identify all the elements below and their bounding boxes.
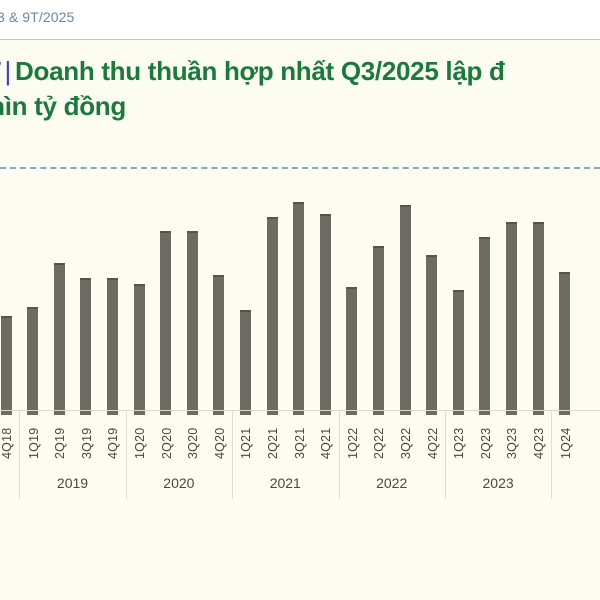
bar-cap	[187, 231, 198, 233]
year-group-2019: 2019	[19, 469, 125, 497]
bar-3q22	[400, 205, 411, 415]
headline-separator: |	[1, 56, 15, 86]
topbar: Q3 & 9T/2025	[0, 0, 600, 40]
bar-cap	[107, 278, 118, 280]
bar-cap	[320, 214, 331, 216]
bar-cap	[426, 255, 437, 257]
bar-1q23	[453, 290, 464, 415]
year-group-2021: 2021	[232, 469, 338, 497]
bar-cap	[293, 202, 304, 204]
bar-1q21	[240, 310, 251, 415]
bar-1q22	[346, 287, 357, 415]
x-tick-label: 1Q24	[559, 428, 573, 459]
bar-cap	[533, 222, 544, 224]
bar-cap	[213, 275, 224, 277]
headline-line-1-text: Doanh thu thuần hợp nhất Q3/2025 lập đ	[15, 56, 505, 86]
bar-cap	[54, 263, 65, 265]
bar-2q23	[479, 237, 490, 415]
bar-2q20	[160, 231, 171, 415]
bar-cap	[1, 316, 12, 318]
bar-4q18	[1, 316, 12, 415]
bar-4q20	[213, 275, 224, 415]
x-axis: 4Q181Q192Q193Q194Q191Q202Q203Q204Q201Q21…	[0, 411, 600, 501]
headline-line-1: HẤT|Doanh thu thuần hợp nhất Q3/2025 lập…	[0, 54, 505, 88]
bar-cap	[373, 246, 384, 248]
year-group-2020: 2020	[126, 469, 232, 497]
year-separator	[232, 411, 233, 499]
bar-cap	[346, 287, 357, 289]
bar-cap	[506, 222, 517, 224]
headline-line-2: nghìn tỷ đồng	[0, 89, 126, 123]
bar-cap	[80, 278, 91, 280]
year-separator	[551, 411, 552, 499]
bar-cap	[27, 307, 38, 309]
bar-1q19	[27, 307, 38, 415]
bar-cap	[267, 217, 278, 219]
headline: HẤT|Doanh thu thuần hợp nhất Q3/2025 lập…	[0, 44, 600, 130]
bar-cap	[240, 310, 251, 312]
bar-chart: 4Q181Q192Q193Q194Q191Q202Q203Q204Q201Q21…	[0, 130, 600, 600]
year-separator	[445, 411, 446, 499]
bar-3q19	[80, 278, 91, 415]
year-group-2023: 2023	[445, 469, 551, 497]
bar-2q19	[54, 263, 65, 415]
bar-4q21	[320, 214, 331, 415]
topbar-label: Q3 & 9T/2025	[0, 9, 74, 25]
bar-4q23	[533, 222, 544, 415]
bar-2q21	[267, 217, 278, 415]
year-separator	[126, 411, 127, 499]
bar-1q20	[134, 284, 145, 415]
bar-3q21	[293, 202, 304, 415]
bar-cap	[134, 284, 145, 286]
bar-2q22	[373, 246, 384, 415]
bar-cap	[453, 290, 464, 292]
bar-3q20	[187, 231, 198, 415]
bar-1q24	[559, 272, 570, 415]
bar-cap	[400, 205, 411, 207]
year-separator	[339, 411, 340, 499]
plot-area	[0, 130, 600, 415]
bar-4q19	[107, 278, 118, 415]
bar-3q23	[506, 222, 517, 415]
bar-cap	[559, 272, 570, 274]
year-group-2022: 2022	[339, 469, 445, 497]
bar-cap	[160, 231, 171, 233]
bar-cap	[479, 237, 490, 239]
bar-4q22	[426, 255, 437, 415]
year-separator	[19, 411, 20, 499]
infographic-canvas: Q3 & 9T/2025 HẤT|Doanh thu thuần hợp nhấ…	[0, 0, 600, 600]
reference-dashed-line	[0, 167, 600, 169]
